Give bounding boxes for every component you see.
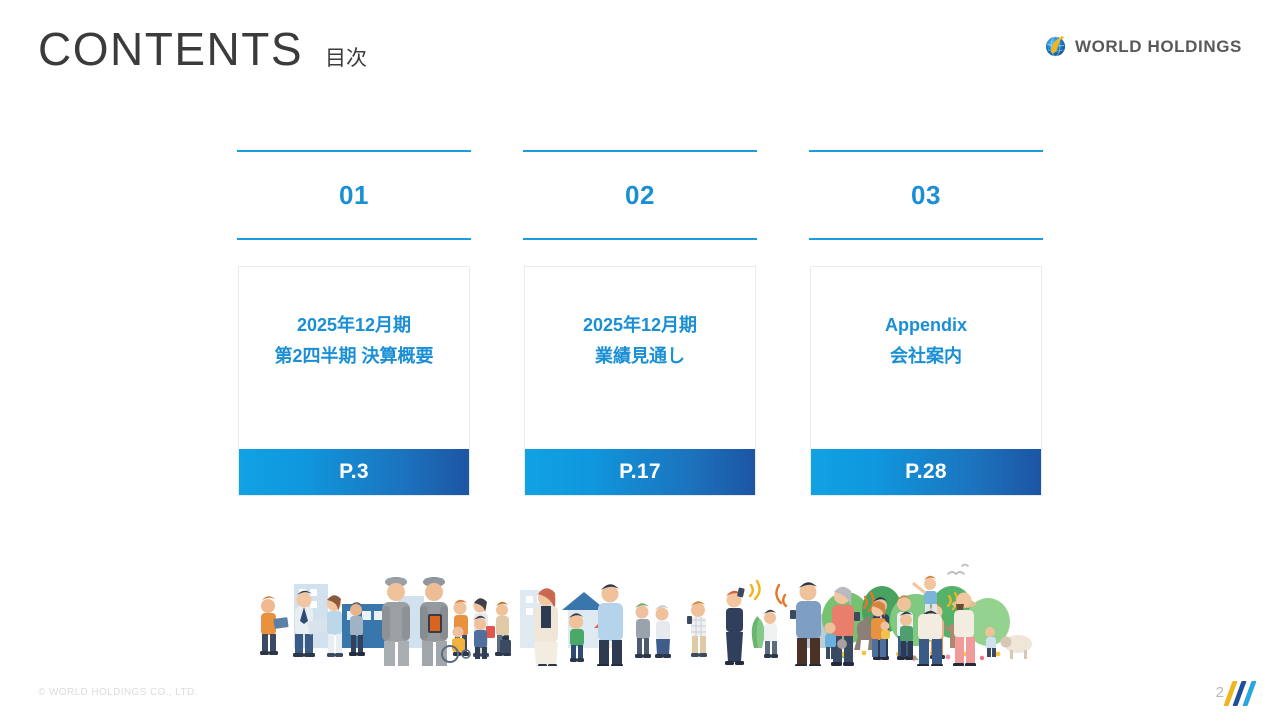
slide-header: CONTENTS 目次 <box>0 0 1280 100</box>
section-title-line1-02: 2025年12月期 <box>583 310 697 341</box>
section-card-body-03: Appendix 会社案内 <box>811 267 1041 449</box>
contents-item-03[interactable]: 03 Appendix 会社案内 P.28 <box>810 150 1042 496</box>
section-page-bar-02[interactable]: P.17 <box>525 449 755 495</box>
section-number-box-02: 02 <box>523 150 757 240</box>
section-title-line1-01: 2025年12月期 <box>297 310 411 341</box>
brand-stripes-icon <box>1226 680 1260 706</box>
section-number-box-01: 01 <box>237 150 471 240</box>
section-title-line2-01: 第2四半期 決算概要 <box>274 341 433 372</box>
section-title-line2-03: 会社案内 <box>890 341 962 372</box>
company-logo-text: WORLD HOLDINGS <box>1075 38 1242 55</box>
page-title-sub: 目次 <box>325 48 367 69</box>
contents-item-01[interactable]: 01 2025年12月期 第2四半期 決算概要 P.3 <box>238 150 470 496</box>
section-card-body-01: 2025年12月期 第2四半期 決算概要 <box>239 267 469 449</box>
section-page-label-03: P.28 <box>905 460 947 484</box>
contents-item-02[interactable]: 02 2025年12月期 業績見通し P.17 <box>524 150 756 496</box>
section-card-03[interactable]: Appendix 会社案内 P.28 <box>810 266 1042 496</box>
section-title-line2-02: 業績見通し <box>595 341 685 372</box>
page-title-main: CONTENTS <box>38 26 303 72</box>
section-page-label-02: P.17 <box>619 460 661 484</box>
slide-contents: CONTENTS 目次 <box>0 0 1280 720</box>
section-page-bar-03[interactable]: P.28 <box>811 449 1041 495</box>
globe-swoosh-icon <box>1044 34 1068 58</box>
section-title-line1-03: Appendix <box>885 310 967 341</box>
copyright-text: © WORLD HOLDINGS CO., LTD. <box>38 687 198 698</box>
section-page-label-01: P.3 <box>339 460 369 484</box>
page-number: 2 <box>1216 680 1260 706</box>
diverse-people-crowd-illustration <box>246 548 1036 666</box>
section-number-01: 01 <box>339 180 369 211</box>
section-number-box-03: 03 <box>809 150 1043 240</box>
section-card-01[interactable]: 2025年12月期 第2四半期 決算概要 P.3 <box>238 266 470 496</box>
page-title: CONTENTS 目次 <box>38 26 367 72</box>
page-number-text: 2 <box>1216 685 1224 706</box>
section-number-03: 03 <box>911 180 941 211</box>
section-number-02: 02 <box>625 180 655 211</box>
section-card-body-02: 2025年12月期 業績見通し <box>525 267 755 449</box>
company-logo: WORLD HOLDINGS <box>1044 34 1242 58</box>
section-page-bar-01[interactable]: P.3 <box>239 449 469 495</box>
section-card-02[interactable]: 2025年12月期 業績見通し P.17 <box>524 266 756 496</box>
